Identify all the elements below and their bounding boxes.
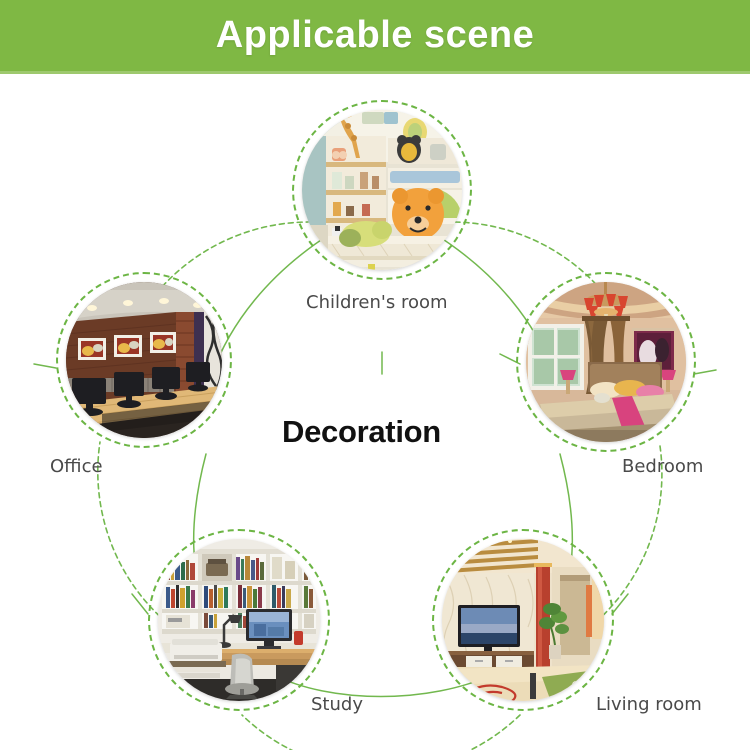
scene-diagram: Children's room [0,74,750,750]
label-bedroom: Bedroom [622,456,703,477]
arc-living-study-outer [242,715,520,750]
spoke-living [612,594,628,614]
applicable-scene-graphic: Applicable scene [0,0,750,750]
label-office: Office [50,456,103,477]
spoke-bedroom-right [694,370,716,374]
label-living-room: Living room [596,694,702,715]
node-childrens-room[interactable] [292,100,472,280]
node-living-room[interactable] [432,529,614,711]
living-room-photo [442,539,604,701]
node-bedroom[interactable] [516,272,696,452]
office-photo [66,282,222,438]
spoke-office-left [34,364,56,368]
center-label: Decoration [282,414,441,450]
label-study: Study [311,694,363,715]
study-photo [158,539,320,701]
childrens-room-photo [302,110,462,270]
label-childrens-room: Children's room [306,292,448,313]
bedroom-photo [526,282,686,442]
node-office[interactable] [56,272,232,448]
page-title: Applicable scene [0,0,750,71]
node-study[interactable] [148,529,330,711]
spoke-study [132,594,148,614]
